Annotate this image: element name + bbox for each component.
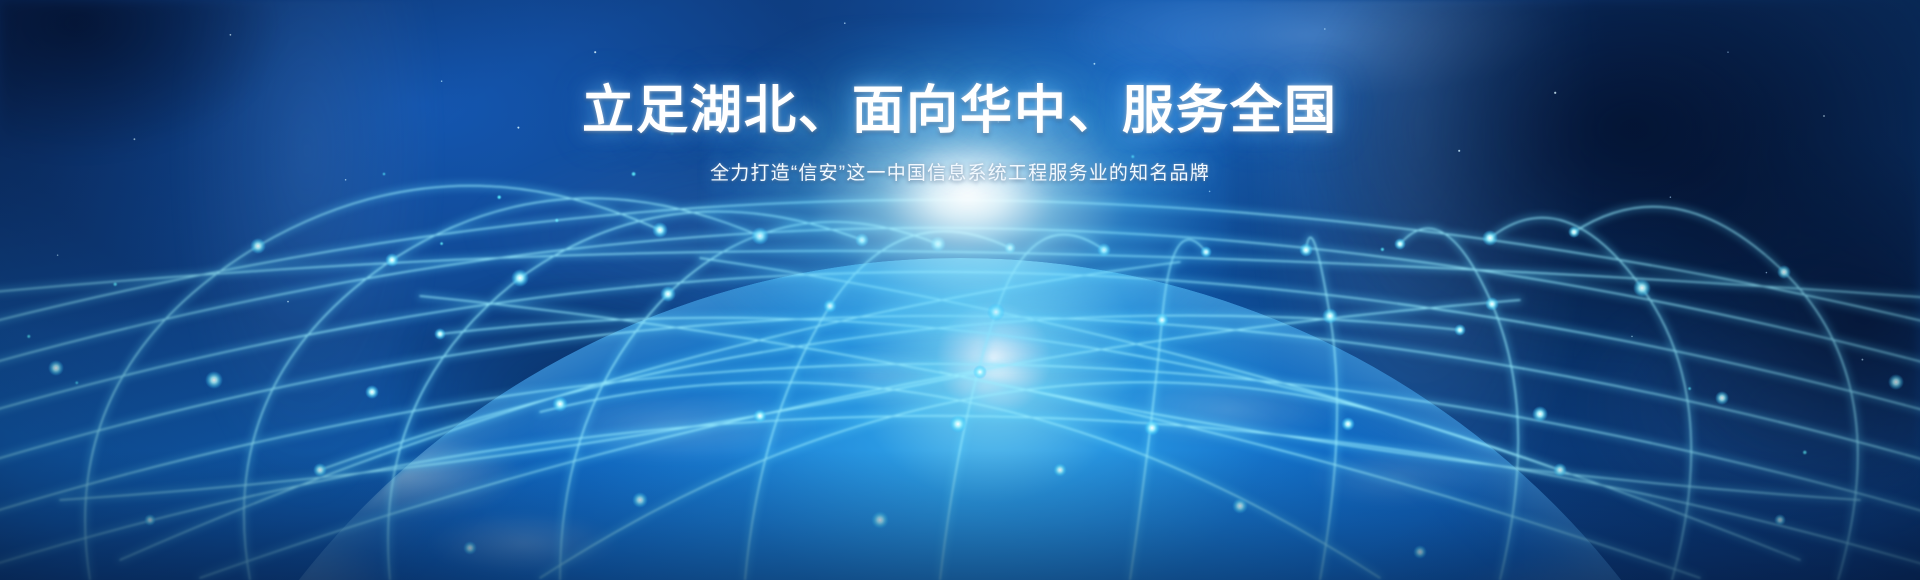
banner-text-block: 立足湖北、面向华中、服务全国 全力打造“信安”这一中国信息系统工程服务业的知名品… (0, 82, 1920, 185)
hero-banner: 立足湖北、面向华中、服务全国 全力打造“信安”这一中国信息系统工程服务业的知名品… (0, 0, 1920, 580)
banner-subline: 全力打造“信安”这一中国信息系统工程服务业的知名品牌 (0, 158, 1920, 185)
banner-headline: 立足湖北、面向华中、服务全国 (0, 82, 1920, 142)
